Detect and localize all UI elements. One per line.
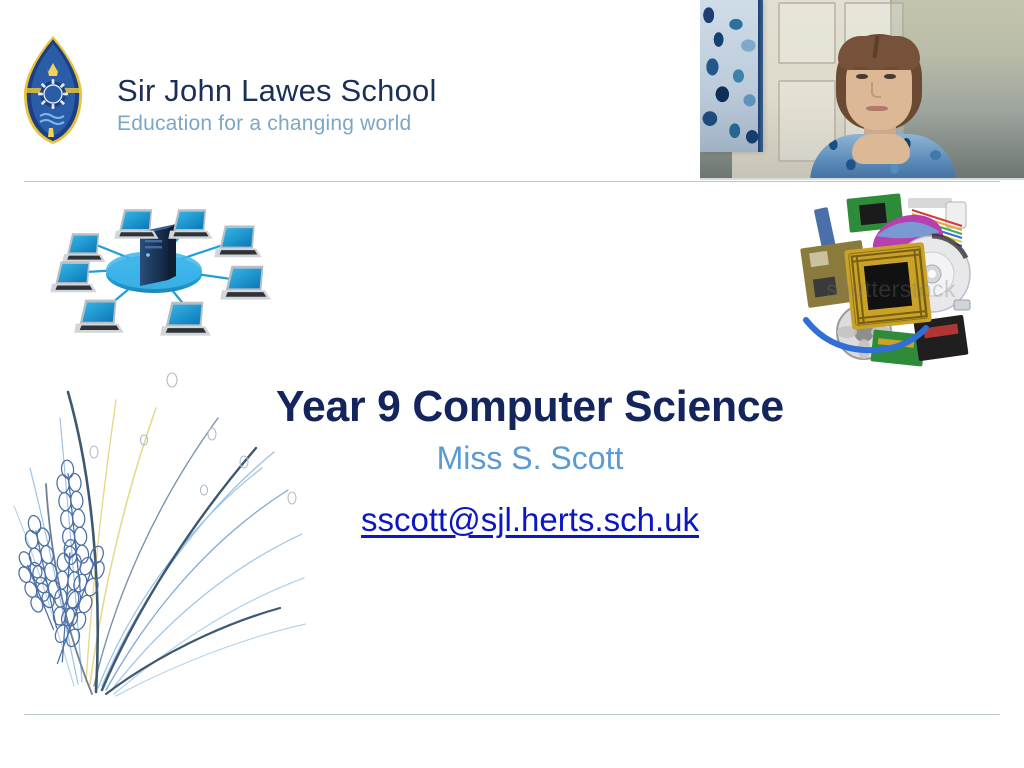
person-eye	[884, 74, 896, 79]
person-mouth	[866, 106, 888, 111]
webcam-video-feed[interactable]	[700, 0, 1024, 180]
email-line: sscott@sjl.herts.sch.uk	[160, 500, 900, 540]
person-eye	[856, 74, 868, 79]
person-nose	[871, 82, 881, 98]
person-chest	[852, 134, 910, 164]
webcam-curtain	[700, 0, 762, 152]
network-topology-image	[42, 196, 278, 344]
school-branding: Sir John Lawes School Education for a ch…	[22, 36, 642, 148]
presentation-slide: Sir John Lawes School Education for a ch…	[0, 0, 1024, 768]
person-hair-front	[838, 36, 920, 70]
slide-title-block: Year 9 Computer Science Miss S. Scott ss…	[160, 382, 900, 540]
page-title: Year 9 Computer Science	[171, 382, 889, 432]
person-eyebrow	[883, 67, 898, 70]
webcam-person	[808, 34, 958, 178]
bottom-divider-rule	[24, 714, 1000, 715]
email-link[interactable]: sscott@sjl.herts.sch.uk	[361, 501, 699, 538]
cpu-chip	[844, 242, 932, 330]
top-divider-rule	[24, 181, 1000, 182]
branding-text: Sir John Lawes School Education for a ch…	[117, 74, 637, 137]
school-crest-icon	[22, 36, 84, 144]
person-eyebrow	[854, 67, 869, 70]
school-name: Sir John Lawes School	[117, 74, 637, 108]
slide-subtitle: Miss S. Scott	[160, 438, 900, 478]
school-tagline: Education for a changing world	[117, 111, 637, 137]
computer-components-image: shutterstock	[796, 192, 982, 376]
webcam-curtain-edge	[758, 0, 763, 152]
